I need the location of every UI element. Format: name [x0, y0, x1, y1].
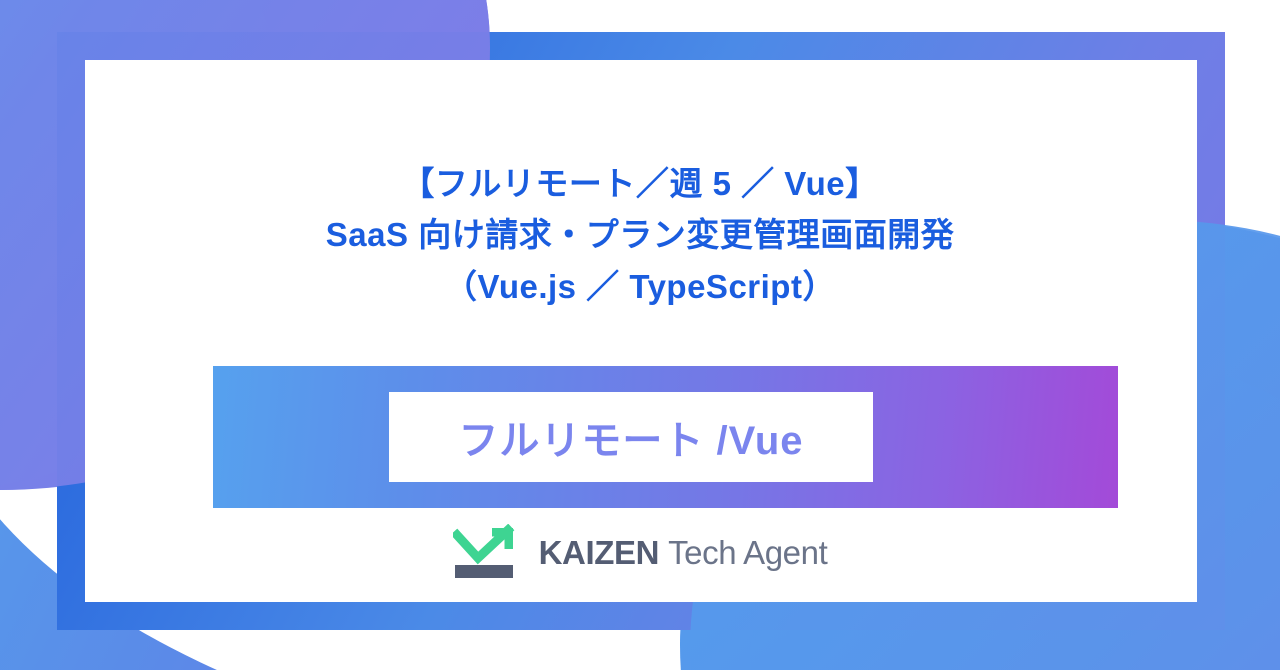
- status-badge-label: フルリモート /Vue: [458, 408, 803, 466]
- growth-arrow-icon: [453, 524, 523, 582]
- page-title-line-2: SaaS 向け請求・プラン変更管理画面開発: [140, 209, 1140, 260]
- page-title: 【フルリモート／週 5 ／ Vue】 SaaS 向け請求・プラン変更管理画面開発…: [140, 158, 1140, 312]
- page-title-line-3: （Vue.js ／ TypeScript）: [140, 261, 1140, 312]
- brand-logo: KAIZEN Tech Agent: [0, 524, 1280, 582]
- brand-suffix: Tech Agent: [668, 534, 827, 572]
- banner-canvas: 【フルリモート／週 5 ／ Vue】 SaaS 向け請求・プラン変更管理画面開発…: [0, 0, 1280, 670]
- status-badge: フルリモート /Vue: [389, 392, 873, 482]
- page-title-line-1: 【フルリモート／週 5 ／ Vue】: [140, 158, 1140, 209]
- brand-logo-wordmark: KAIZEN Tech Agent: [539, 534, 828, 572]
- brand-name: KAIZEN: [539, 534, 659, 572]
